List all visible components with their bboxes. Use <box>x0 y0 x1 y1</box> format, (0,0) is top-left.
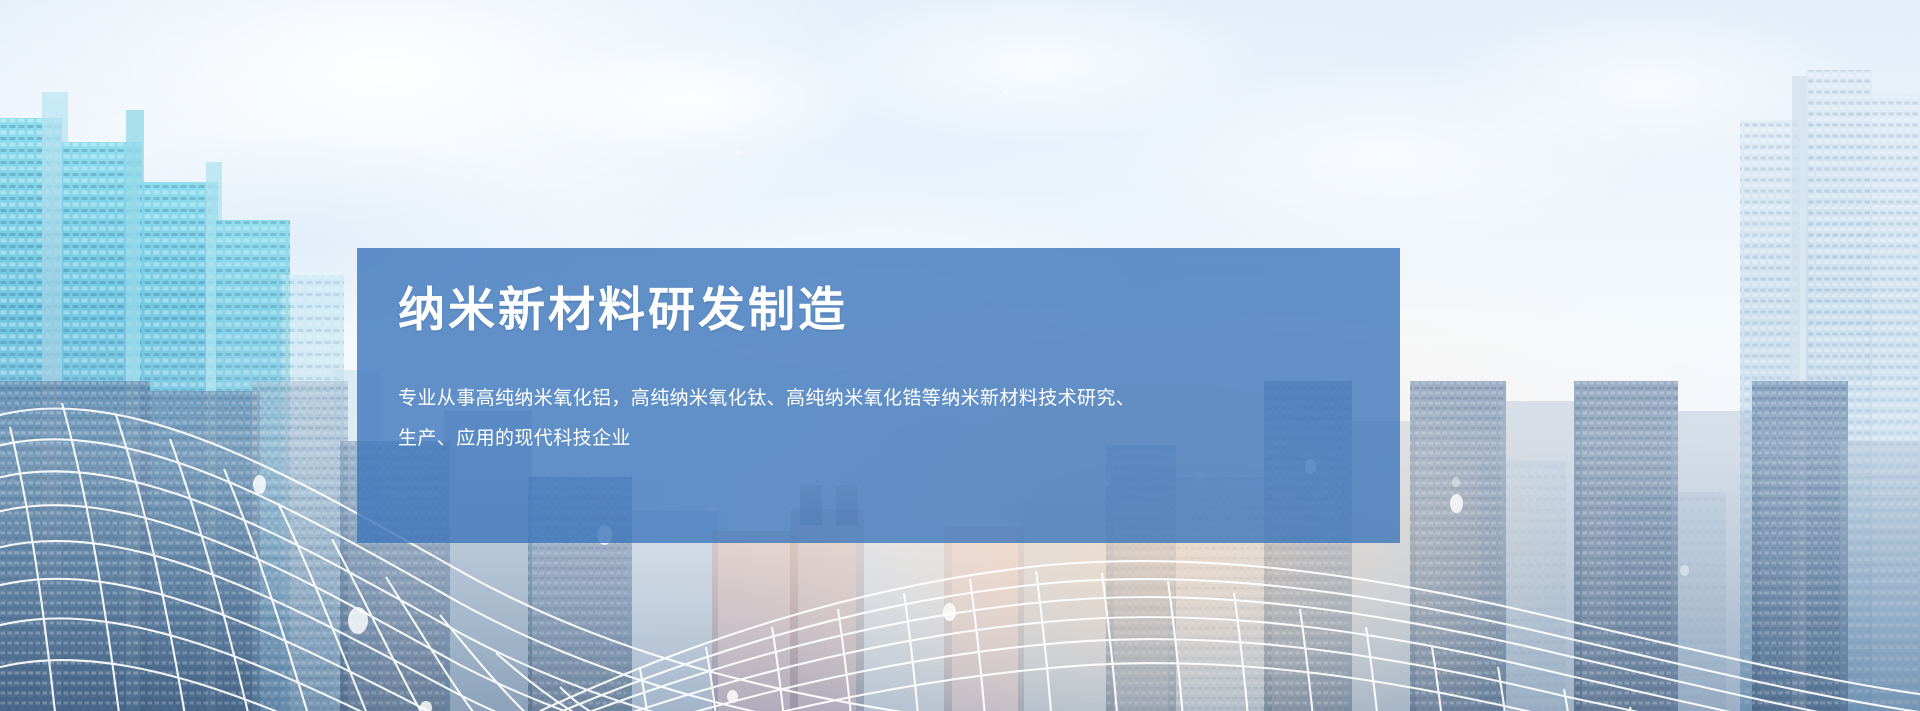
hero-subtitle: 专业从事高纯纳米氧化铝，高纯纳米氧化钛、高纯纳米氧化锆等纳米新材料技术研究、 生… <box>398 379 1198 460</box>
hero-subtitle-line-2: 生产、应用的现代科技企业 <box>398 419 1198 459</box>
page-title: 纳米新材料研发制造 <box>398 284 1400 337</box>
hero-subtitle-line-1: 专业从事高纯纳米氧化铝，高纯纳米氧化钛、高纯纳米氧化锆等纳米新材料技术研究、 <box>398 379 1198 419</box>
hero-text-panel: 纳米新材料研发制造 专业从事高纯纳米氧化铝，高纯纳米氧化钛、高纯纳米氧化锆等纳米… <box>357 248 1400 543</box>
hero-banner: 纳米新材料研发制造 专业从事高纯纳米氧化铝，高纯纳米氧化钛、高纯纳米氧化锆等纳米… <box>0 0 1920 711</box>
